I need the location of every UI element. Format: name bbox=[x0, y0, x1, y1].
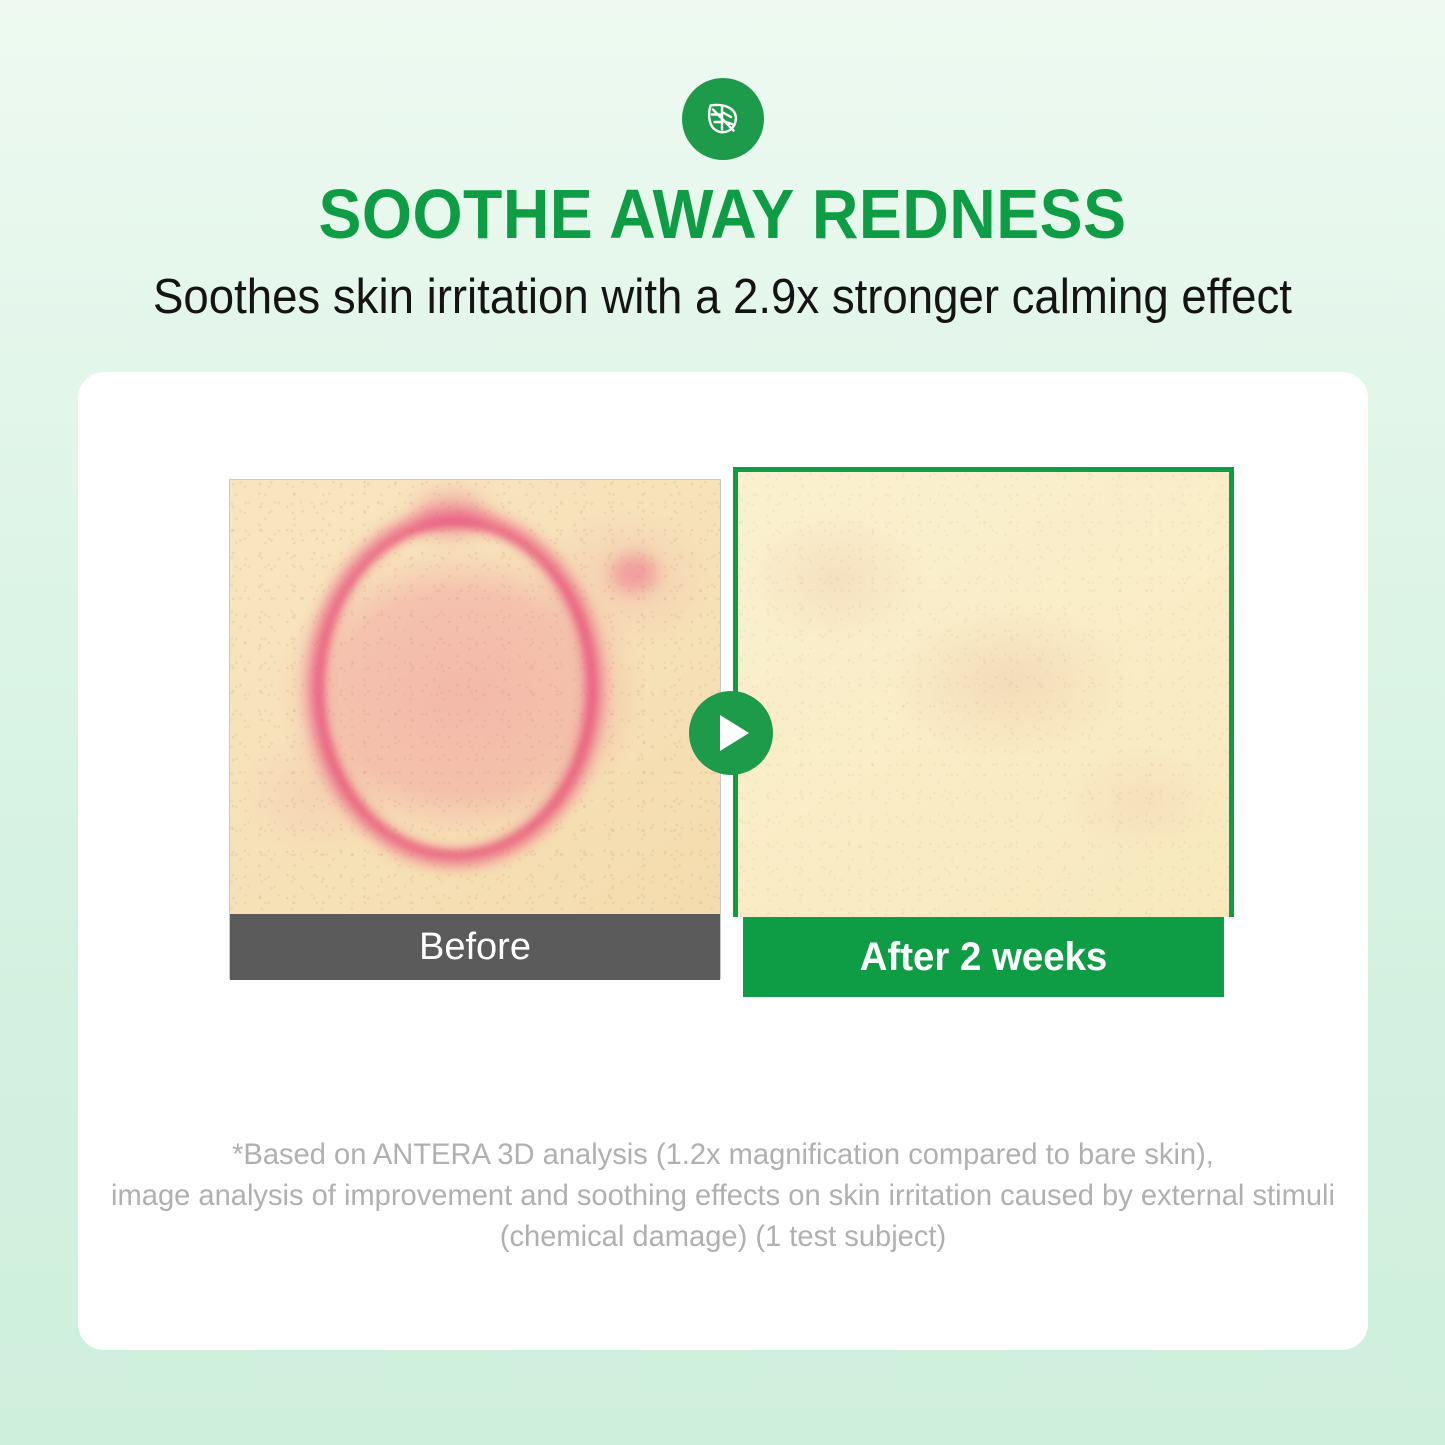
leaf-icon bbox=[682, 78, 764, 160]
skin-texture-overlay bbox=[738, 472, 1229, 917]
footnote-line-3: (chemical damage) (1 test subject) bbox=[97, 1216, 1348, 1257]
before-caption: Before bbox=[230, 914, 720, 980]
play-arrow-icon[interactable] bbox=[689, 691, 773, 775]
play-triangle bbox=[720, 715, 749, 751]
footnote: *Based on ANTERA 3D analysis (1.2x magni… bbox=[97, 1134, 1348, 1257]
promo-page: SOOTHE AWAY REDNESS Soothes skin irritat… bbox=[0, 0, 1445, 1445]
footnote-line-2: image analysis of improvement and soothi… bbox=[97, 1175, 1348, 1216]
page-subtitle: Soothes skin irritation with a 2.9x stro… bbox=[51, 268, 1395, 326]
after-skin-image bbox=[733, 467, 1234, 917]
after-panel: After 2 weeks bbox=[733, 467, 1234, 997]
before-skin-image bbox=[230, 480, 720, 914]
skin-texture-overlay bbox=[230, 480, 720, 914]
badge-container bbox=[0, 78, 1445, 160]
before-panel: Before bbox=[229, 479, 721, 979]
footnote-line-1: *Based on ANTERA 3D analysis (1.2x magni… bbox=[97, 1134, 1348, 1175]
content-card: Before After 2 weeks *Based on ANTERA 3D… bbox=[78, 372, 1368, 1350]
after-caption: After 2 weeks bbox=[743, 917, 1224, 997]
before-after-comparison: Before After 2 weeks bbox=[229, 479, 1234, 1009]
redness-blotch-right bbox=[612, 554, 658, 592]
page-title: SOOTHE AWAY REDNESS bbox=[58, 176, 1387, 252]
redness-blotch-top bbox=[416, 493, 486, 537]
